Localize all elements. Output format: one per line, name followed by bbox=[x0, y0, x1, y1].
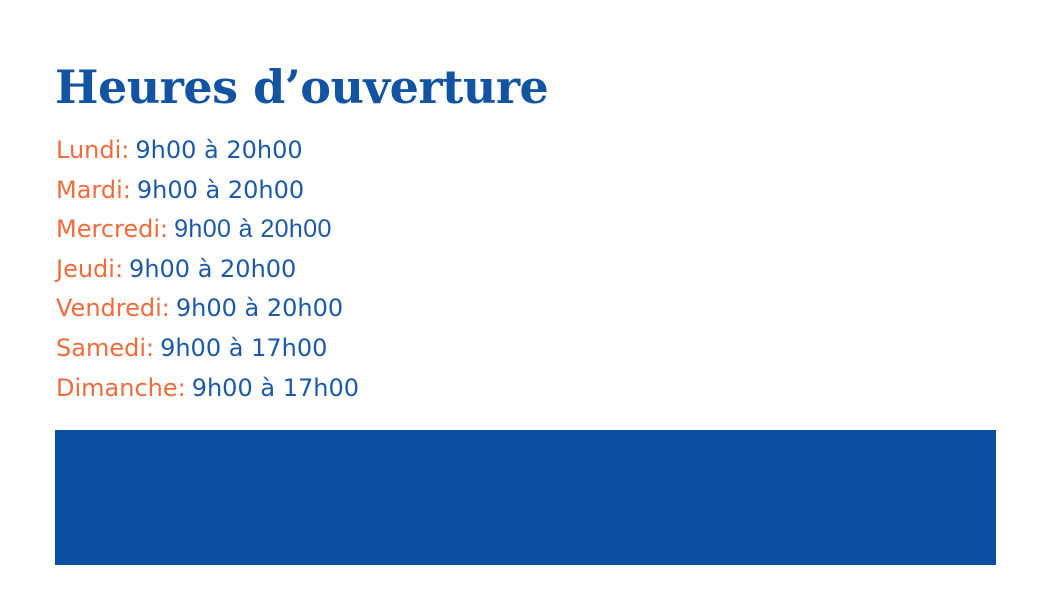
day-label: Samedi: bbox=[56, 334, 154, 362]
list-item: Lundi:9h00 à 20h00 bbox=[56, 131, 756, 171]
time-value: 9h00 à 20h00 bbox=[174, 215, 332, 243]
day-label: Mercredi: bbox=[56, 215, 168, 243]
slide-canvas: Heures d’ouverture Lundi:9h00 à 20h00 Ma… bbox=[0, 0, 1050, 600]
day-label: Dimanche: bbox=[56, 374, 186, 402]
list-item: Jeudi:9h00 à 20h00 bbox=[56, 250, 756, 290]
time-value: 9h00 à 20h00 bbox=[135, 136, 302, 164]
list-item: Samedi:9h00 à 17h00 bbox=[56, 329, 756, 369]
time-value: 9h00 à 20h00 bbox=[176, 294, 343, 322]
list-item: Mardi:9h00 à 20h00 bbox=[56, 171, 756, 211]
banner-block bbox=[55, 430, 996, 565]
day-label: Vendredi: bbox=[56, 294, 170, 322]
time-value: 9h00 à 17h00 bbox=[192, 374, 359, 402]
time-value: 9h00 à 17h00 bbox=[160, 334, 327, 362]
opening-hours-list: Lundi:9h00 à 20h00 Mardi:9h00 à 20h00 Me… bbox=[56, 131, 756, 408]
list-item: Dimanche:9h00 à 17h00 bbox=[56, 369, 756, 409]
day-label: Jeudi: bbox=[56, 255, 123, 283]
time-value: 9h00 à 20h00 bbox=[137, 176, 304, 204]
list-item: Mercredi:9h00 à 20h00 bbox=[56, 210, 756, 250]
list-item: Vendredi:9h00 à 20h00 bbox=[56, 289, 756, 329]
day-label: Mardi: bbox=[56, 176, 131, 204]
day-label: Lundi: bbox=[56, 136, 129, 164]
time-value: 9h00 à 20h00 bbox=[129, 255, 296, 283]
page-title: Heures d’ouverture bbox=[55, 60, 548, 114]
